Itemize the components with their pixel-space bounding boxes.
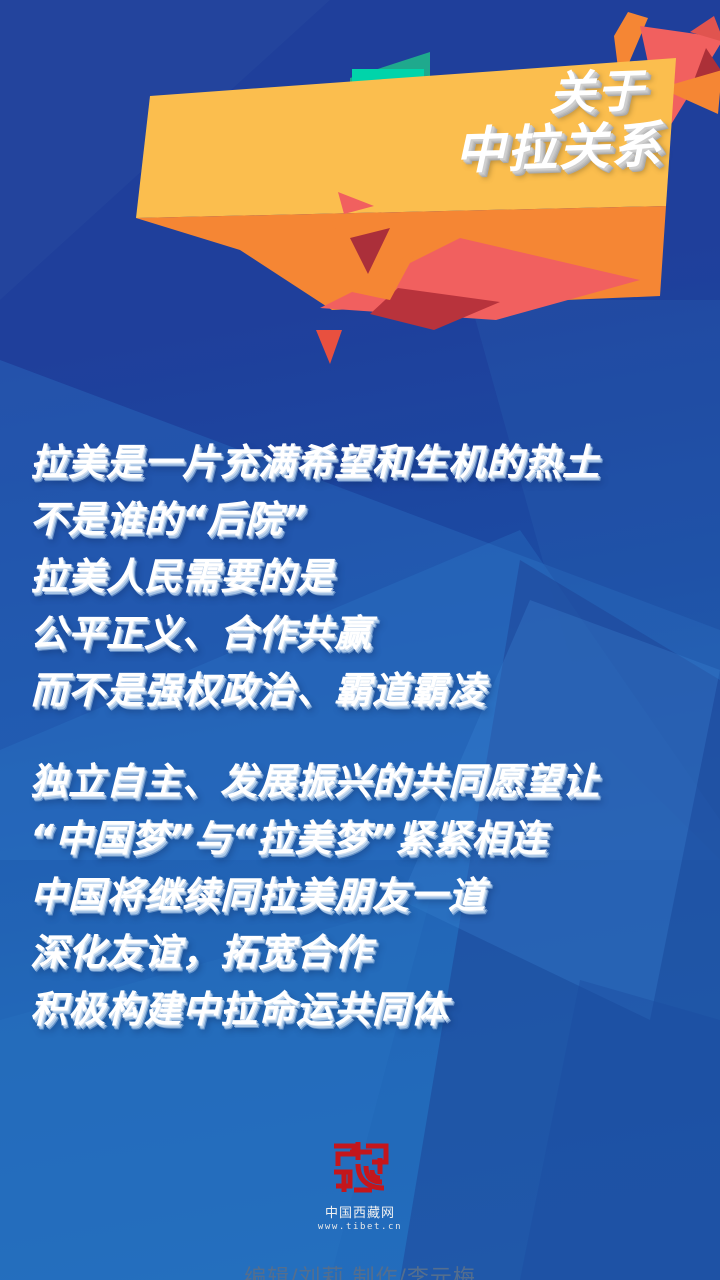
site-logo: 中国西藏网 www.tibet.cn [318, 1140, 402, 1232]
body-line: 公平正义、合作共赢 [30, 605, 700, 662]
poster-title: 关于 中拉关系 [0, 63, 678, 194]
body-line: 拉美是一片充满希望和生机的热土 [30, 434, 700, 491]
paragraph-2: 独立自主、发展振兴的共同愿望让 “中国梦”与“拉美梦”紧紧相连 中国将继续同拉美… [30, 753, 700, 1038]
credits-label: 编辑/刘莉 制作/李元梅 [0, 1260, 720, 1280]
header-banner: 关于 中拉关系 [0, 0, 720, 330]
body-line: 中国将继续同拉美朋友一道 [30, 867, 700, 924]
body-line: “中国梦”与“拉美梦”紧紧相连 [30, 810, 700, 867]
site-url-label: www.tibet.cn [318, 1222, 402, 1232]
orange-dot-icon [332, 218, 343, 229]
site-name-label: 中国西藏网 [318, 1202, 402, 1221]
footer: 中国西藏网 www.tibet.cn 编辑/刘莉 制作/李元梅 [0, 1140, 720, 1280]
body-line: 不是谁的“后院” [30, 491, 700, 548]
tibet-seal-logo-icon [328, 1140, 392, 1198]
poster-root: 关于 中拉关系 拉美是一片充满希望和生机的热土 不是谁的“后院” 拉美人民需要的… [0, 0, 720, 1280]
body-line: 独立自主、发展振兴的共同愿望让 [30, 753, 700, 810]
body-line: 拉美人民需要的是 [30, 548, 700, 605]
body-line: 积极构建中拉命运共同体 [30, 981, 700, 1038]
body-line: 而不是强权政治、霸道霸凌 [30, 662, 700, 719]
paragraph-1: 拉美是一片充满希望和生机的热土 不是谁的“后院” 拉美人民需要的是 公平正义、合… [30, 434, 700, 719]
body-line: 深化友谊，拓宽合作 [30, 924, 700, 981]
body-text-block: 拉美是一片充满希望和生机的热土 不是谁的“后院” 拉美人民需要的是 公平正义、合… [30, 434, 700, 1038]
